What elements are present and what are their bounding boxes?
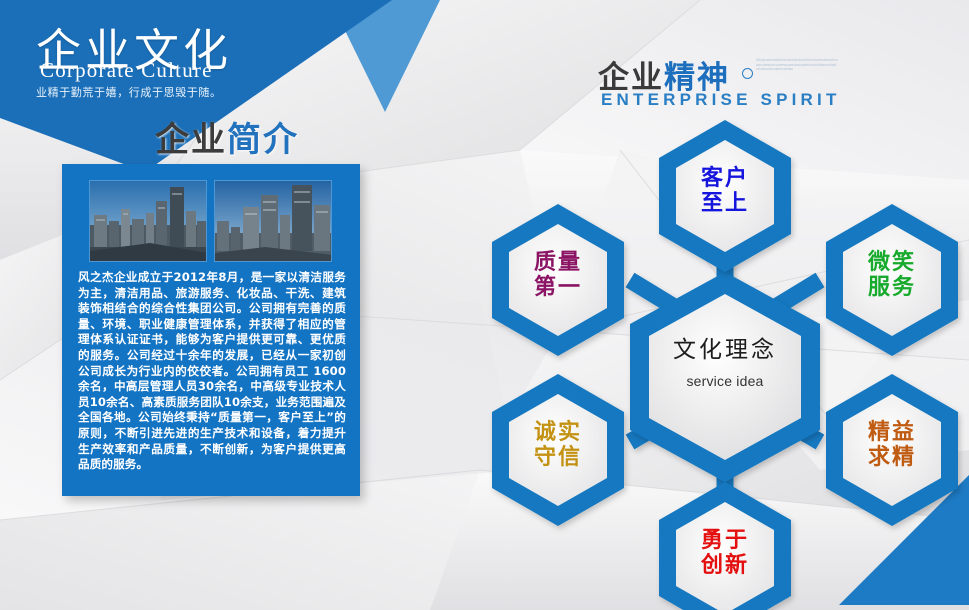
enterprise-spirit-header: 企业精神 dfhdjsuwksldskfwoiuchkdhdiuriufdvnm…	[598, 52, 898, 114]
intro-title-dark: 企业	[155, 121, 227, 159]
slide-canvas: 企业文化 Corporate Culture 业精于勤荒于嬉，行成于思毁于随。 …	[0, 0, 969, 610]
panel-photo-strip	[89, 180, 332, 262]
hexagon-quality-first	[492, 204, 624, 356]
corporate-culture-banner: 企业文化 Corporate Culture 业精于勤荒于嬉，行成于思毁于随。	[0, 0, 430, 190]
spirit-title-en: ENTERPRISE SPIRIT	[601, 90, 841, 110]
hexagon-excellence	[826, 374, 958, 526]
hexagon-customer-first	[659, 120, 791, 272]
circle-decoration-icon	[742, 68, 753, 79]
company-intro-panel: 风之杰企业成立于2012年8月，是一家以清洁服务为主，清洁用品、旅游服务、化妆品…	[62, 164, 360, 496]
decorative-microtext-line: dfhdjsuwksldskfwoiuchkdhdiuriufdvnmathud…	[756, 58, 838, 72]
banner-subtitle: 业精于勤荒于嬉，行成于思毁于随。	[36, 84, 222, 100]
decorative-microtext: dfhdjsuwksldskfwoiuchkdhdiuriufdvnmathud…	[756, 58, 838, 84]
culture-hexagon-diagram: 客户 至上 微笑 服务 精益 求精 勇于 创新 诚实 守信 质量 第一 文化理念…	[480, 112, 969, 610]
intro-section-title: 企业简介	[155, 112, 299, 161]
city-skyline-photo-2	[214, 180, 332, 262]
company-intro-text: 风之杰企业成立于2012年8月，是一家以清洁服务为主，清洁用品、旅游服务、化妆品…	[78, 270, 346, 473]
hexagon-smile-service	[826, 204, 958, 356]
banner-title-en: Corporate Culture	[40, 58, 213, 83]
hexagon-integrity	[492, 374, 624, 526]
hexagon-courage-innovation	[659, 482, 791, 610]
intro-title-blue: 简介	[227, 121, 299, 159]
city-skyline-photo-1	[89, 180, 207, 262]
